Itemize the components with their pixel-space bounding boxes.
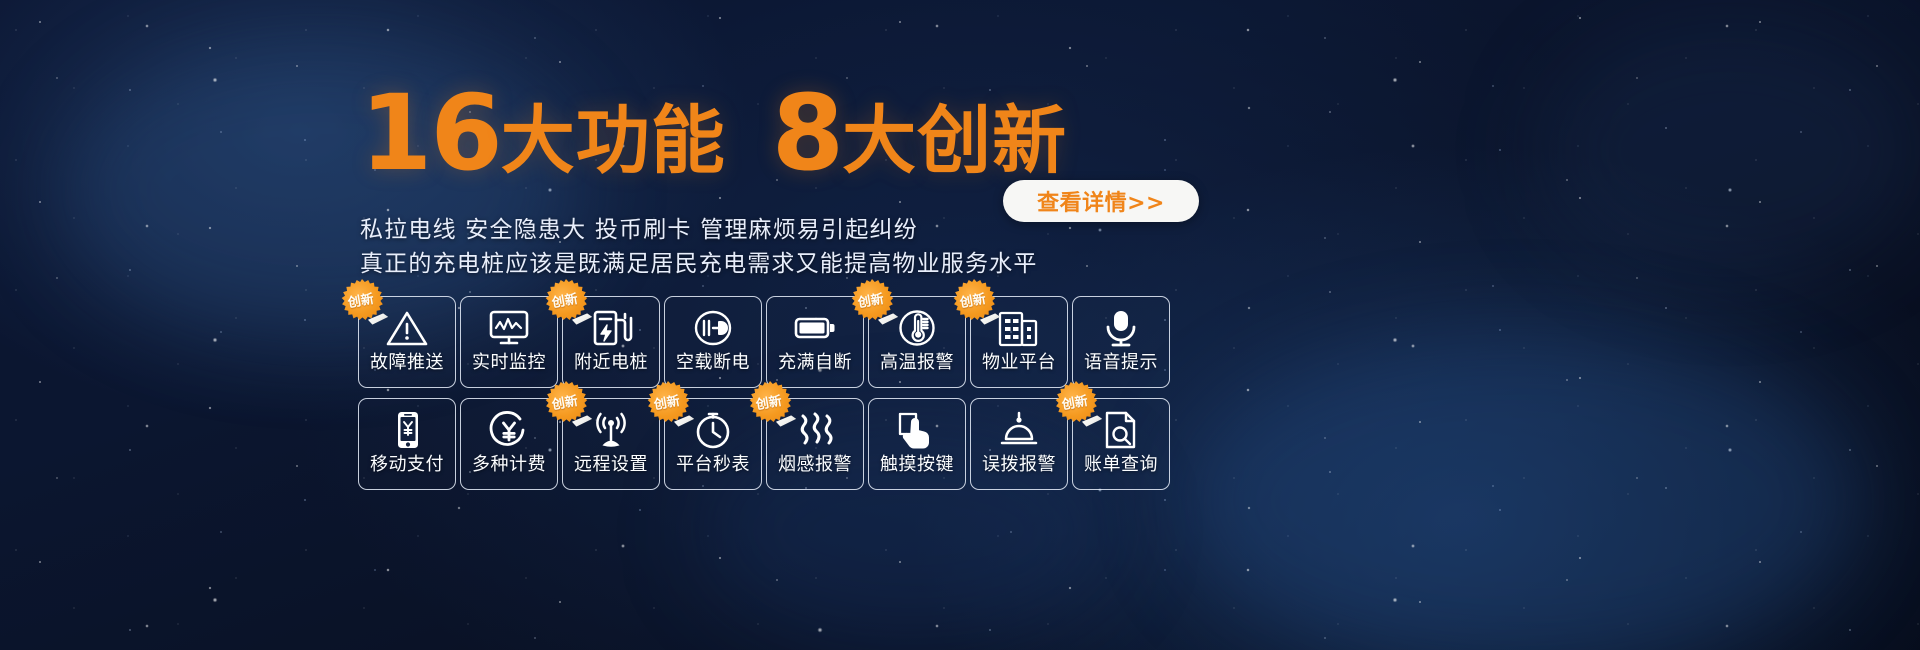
subtitle-line-2: 真正的充电桩应该是既满足居民充电需求又能提高物业服务水平 — [360, 244, 1038, 278]
feature-card-idle-cutoff[interactable]: 空载断电 — [664, 296, 762, 388]
promo-banner: 16 大功能 8 大创新 私拉电线 安全隐患大 投币刷卡 管理麻烦易引起纠纷 真… — [0, 0, 1920, 650]
feature-card-auto-cutoff-full[interactable]: 充满自断 — [766, 296, 864, 388]
feature-card-misdial-alarm[interactable]: 误拨报警 — [970, 398, 1068, 490]
headline-number-16: 16 — [360, 86, 501, 182]
starburst-shape — [339, 279, 385, 325]
innovation-badge: 创新 — [339, 279, 385, 325]
plug-circle-icon — [688, 304, 738, 352]
feature-card-touch-key[interactable]: 触摸按键 — [868, 398, 966, 490]
feature-label: 多种计费 — [472, 456, 546, 474]
charging-pile-icon — [586, 304, 636, 352]
subtitle-line-1: 私拉电线 安全隐患大 投币刷卡 管理麻烦易引起纠纷 — [360, 210, 918, 244]
feature-card-fault-push[interactable]: 创新 故障推送 — [358, 296, 456, 388]
smoke-detector-icon — [790, 406, 840, 454]
feature-card-platform-timer[interactable]: 创新 平台秒表 — [664, 398, 762, 490]
feature-label: 实时监控 — [472, 354, 546, 372]
headline-text-innovations: 大创新 — [842, 104, 1067, 182]
feature-card-remote-setting[interactable]: 创新 远程设置 — [562, 398, 660, 490]
feature-label: 充满自断 — [778, 354, 852, 372]
feature-card-mobile-payment[interactable]: 移动支付 — [358, 398, 456, 490]
feature-label: 物业平台 — [982, 354, 1056, 372]
alarm-bell-icon — [994, 406, 1044, 454]
feature-card-multi-billing[interactable]: 多种计费 — [460, 398, 558, 490]
touch-hand-icon — [892, 406, 942, 454]
headline: 16 大功能 8 大创新 — [360, 86, 1067, 182]
feature-label: 附近电桩 — [574, 354, 648, 372]
innovation-badge-label: 创新 — [347, 292, 375, 309]
monitor-waveform-icon — [484, 304, 534, 352]
feature-card-realtime-monitor[interactable]: 实时监控 — [460, 296, 558, 388]
feature-card-nearby-pile[interactable]: 创新 附近电桩 — [562, 296, 660, 388]
yuan-circle-icon — [484, 406, 534, 454]
antenna-signal-icon — [586, 406, 636, 454]
headline-text-functions: 大功能 — [501, 104, 726, 182]
warning-triangle-icon — [382, 304, 432, 352]
phone-yuan-icon — [382, 406, 432, 454]
feature-label: 远程设置 — [574, 456, 648, 474]
feature-label: 平台秒表 — [676, 456, 750, 474]
buildings-icon — [994, 304, 1044, 352]
feature-card-property-platform[interactable]: 创新 物业平台 — [970, 296, 1068, 388]
feature-label: 语音提示 — [1084, 354, 1158, 372]
view-details-button[interactable]: 查看详情>> — [1003, 180, 1199, 222]
battery-full-icon — [790, 304, 840, 352]
bill-search-icon — [1096, 406, 1146, 454]
feature-label: 误拨报警 — [982, 456, 1056, 474]
feature-grid: 创新 故障推送 — [358, 296, 1170, 490]
feature-label: 高温报警 — [880, 354, 954, 372]
feature-card-voice-prompt[interactable]: 语音提示 — [1072, 296, 1170, 388]
headline-number-8: 8 — [772, 86, 842, 182]
feature-label: 烟感报警 — [778, 456, 852, 474]
feature-card-high-temp-alarm[interactable]: 创新 高温报警 — [868, 296, 966, 388]
feature-label: 触摸按键 — [880, 456, 954, 474]
feature-label: 故障推送 — [370, 354, 444, 372]
banner-content: 16 大功能 8 大创新 私拉电线 安全隐患大 投币刷卡 管理麻烦易引起纠纷 真… — [0, 0, 1920, 650]
microphone-icon — [1096, 304, 1146, 352]
feature-label: 空载断电 — [676, 354, 750, 372]
feature-card-smoke-alarm[interactable]: 创新 烟感报警 — [766, 398, 864, 490]
feature-label: 账单查询 — [1084, 456, 1158, 474]
feature-label: 移动支付 — [370, 456, 444, 474]
thermometer-icon — [892, 304, 942, 352]
stopwatch-icon — [688, 406, 738, 454]
feature-card-bill-query[interactable]: 创新 账单查询 — [1072, 398, 1170, 490]
